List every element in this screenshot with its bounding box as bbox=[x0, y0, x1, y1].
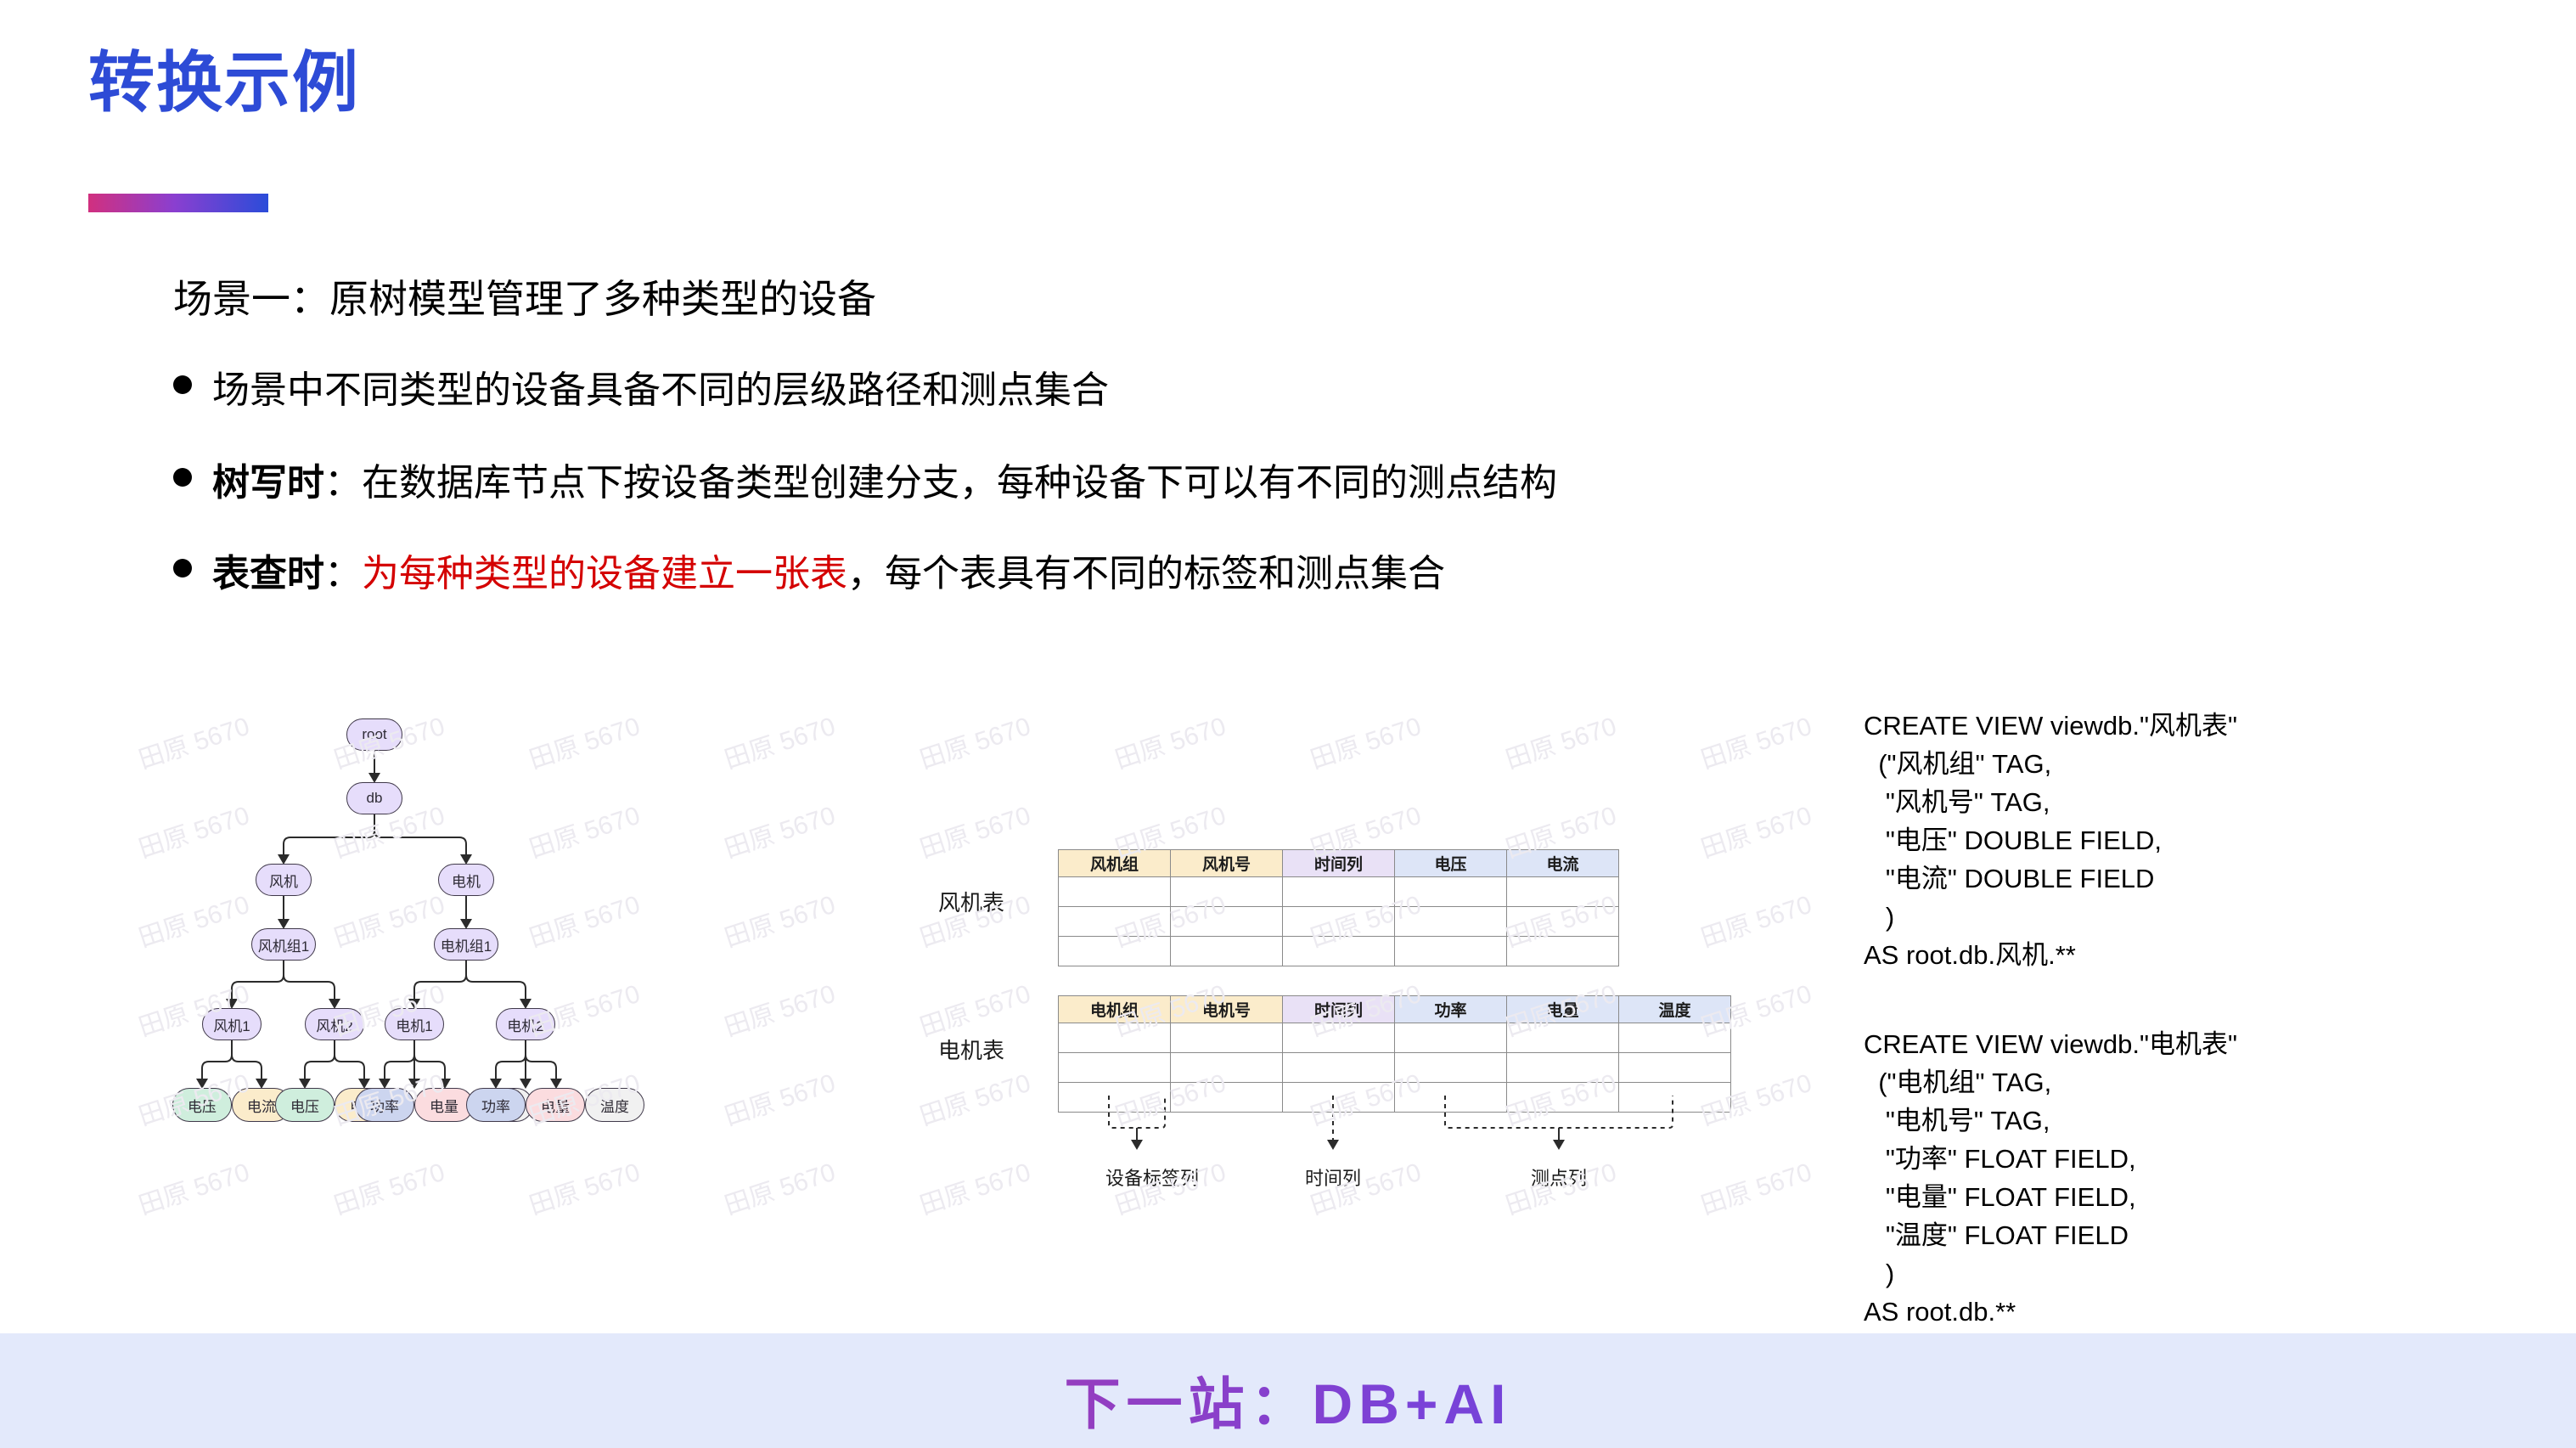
bullet-dot-icon bbox=[173, 468, 192, 487]
fan-table-header-row: 风机组 风机号 时间列 电压 电流 bbox=[1059, 850, 1619, 877]
fan-col-voltage: 电压 bbox=[1395, 850, 1507, 877]
sql-create-view-motor: CREATE VIEW viewdb."电机表" ("电机组" TAG, "电机… bbox=[1864, 1025, 2237, 1331]
motor-table-label: 电机表 bbox=[938, 1034, 1004, 1065]
motor-col-energy: 电量 bbox=[1507, 996, 1619, 1023]
tree-node-fan[interactable]: 风机 bbox=[256, 864, 312, 896]
fan-table: 风机组 风机号 时间列 电压 电流 bbox=[1058, 849, 1619, 966]
tree-leaf-power[interactable]: 功率 bbox=[355, 1088, 414, 1122]
tree-node-fan-group-1[interactable]: 风机组1 bbox=[251, 928, 316, 961]
tree-leaf-energy[interactable]: 电量 bbox=[526, 1088, 585, 1122]
tree-node-motor-group-1[interactable]: 电机组1 bbox=[434, 928, 498, 961]
annotation-time-column: 时间列 bbox=[1305, 1163, 1361, 1191]
bullet-item-3: 表查时 ： 为每种类型的设备建立一张表 ，每个表具有不同的标签和测点集合 bbox=[173, 554, 1445, 594]
bullet-dot-icon bbox=[173, 375, 192, 394]
bullet-item-2: 树写时 ： 在数据库节点下按设备类型创建分支，每种设备下可以有不同的测点结构 bbox=[173, 463, 1557, 504]
bullet-2-separator: ： bbox=[324, 463, 362, 504]
bullet-1-text: 场景中不同类型的设备具备不同的层级路径和测点集合 bbox=[212, 370, 1109, 411]
bullet-item-1: 场景中不同类型的设备具备不同的层级路径和测点集合 bbox=[173, 370, 1109, 411]
tree-node-motor-2[interactable]: 电机2 bbox=[496, 1008, 555, 1040]
footer-slogan: 下一站：DB+AI bbox=[0, 1359, 2576, 1440]
bullet-3-separator: ： bbox=[324, 554, 362, 594]
tree-model-diagram: root db 风机 电机 风机组1 电机组1 风机1 风机2 电机1 电机2 … bbox=[127, 705, 900, 1240]
motor-col-temperature: 温度 bbox=[1619, 996, 1731, 1023]
tree-leaf-power[interactable]: 功率 bbox=[466, 1088, 526, 1122]
scene-heading: 场景一：原树模型管理了多种类型的设备 bbox=[173, 278, 876, 321]
motor-col-id: 电机号 bbox=[1171, 996, 1283, 1023]
tree-edges bbox=[127, 705, 900, 1240]
bullet-3-lead: 表查时 bbox=[212, 554, 324, 594]
tree-node-root[interactable]: root bbox=[346, 718, 402, 751]
watermark-text: 田原 5670 bbox=[1110, 705, 1230, 776]
bullet-2-text: 在数据库节点下按设备类型创建分支，每种设备下可以有不同的测点结构 bbox=[362, 463, 1557, 504]
fan-col-time: 时间列 bbox=[1283, 850, 1395, 877]
title-underline-bar bbox=[88, 194, 268, 212]
bullet-3-highlight: 为每种类型的设备建立一张表 bbox=[362, 554, 847, 594]
motor-table-header-row: 电机组 电机号 时间列 功率 电量 温度 bbox=[1059, 996, 1731, 1023]
fan-table-label: 风机表 bbox=[938, 886, 1004, 917]
annotation-measure-columns: 测点列 bbox=[1531, 1163, 1587, 1191]
watermark-text: 田原 5670 bbox=[1696, 705, 1816, 776]
watermark-text: 田原 5670 bbox=[914, 1062, 1035, 1133]
bullet-dot-icon bbox=[173, 559, 192, 578]
motor-col-power: 功率 bbox=[1395, 996, 1507, 1023]
motor-col-time: 时间列 bbox=[1283, 996, 1395, 1023]
fan-col-current: 电流 bbox=[1507, 850, 1619, 877]
watermark-text: 田原 5670 bbox=[914, 705, 1035, 776]
tree-node-fan-2[interactable]: 风机2 bbox=[305, 1008, 364, 1040]
tree-leaf-voltage[interactable]: 电压 bbox=[172, 1088, 232, 1122]
tree-leaf-temperature[interactable]: 温度 bbox=[585, 1088, 644, 1122]
tree-leaf-voltage[interactable]: 电压 bbox=[275, 1088, 335, 1122]
tree-node-motor-1[interactable]: 电机1 bbox=[385, 1008, 444, 1040]
tree-node-db[interactable]: db bbox=[346, 782, 402, 814]
tree-node-fan-1[interactable]: 风机1 bbox=[202, 1008, 262, 1040]
watermark-text: 田原 5670 bbox=[1305, 705, 1426, 776]
watermark-text: 田原 5670 bbox=[1500, 705, 1621, 776]
watermark-text: 田原 5670 bbox=[914, 794, 1035, 865]
watermark-text: 田原 5670 bbox=[1696, 794, 1816, 865]
bullet-3-text: ，每个表具有不同的标签和测点集合 bbox=[847, 554, 1445, 594]
tree-leaf-energy[interactable]: 电量 bbox=[414, 1088, 474, 1122]
fan-col-id: 风机号 bbox=[1171, 850, 1283, 877]
table-row bbox=[1059, 1053, 1731, 1083]
fan-col-group: 风机组 bbox=[1059, 850, 1171, 877]
sql-create-view-fan: CREATE VIEW viewdb."风机表" ("风机组" TAG, "风机… bbox=[1864, 707, 2237, 974]
motor-col-group: 电机组 bbox=[1059, 996, 1171, 1023]
watermark-text: 田原 5670 bbox=[1696, 883, 1816, 955]
table-row bbox=[1059, 1023, 1731, 1053]
table-row bbox=[1059, 877, 1619, 907]
annotation-tag-columns: 设备标签列 bbox=[1105, 1163, 1199, 1191]
table-row bbox=[1059, 937, 1619, 966]
page-title: 转换示例 bbox=[88, 49, 360, 116]
table-row bbox=[1059, 907, 1619, 937]
bullet-2-lead: 树写时 bbox=[212, 463, 324, 504]
watermark-text: 田原 5670 bbox=[914, 1151, 1035, 1222]
tree-node-motor[interactable]: 电机 bbox=[438, 864, 494, 896]
